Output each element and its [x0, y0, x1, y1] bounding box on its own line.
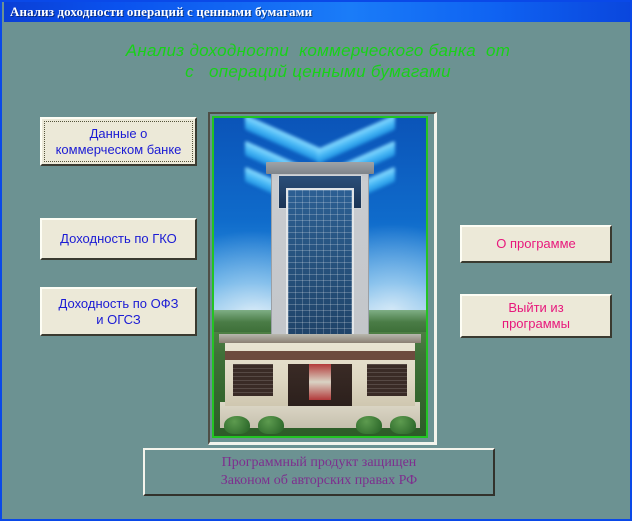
window-title-text: Анализ доходности операций с ценными бум…	[4, 4, 312, 20]
gko-yield-button[interactable]: Доходность по ГКО	[40, 218, 197, 260]
bank-podium	[225, 342, 415, 406]
bush	[390, 416, 416, 434]
bank-tower	[271, 162, 369, 358]
client-area: Анализ доходности коммерческого банка от…	[4, 22, 632, 521]
tower-cap	[266, 162, 374, 174]
application-window: Анализ доходности операций с ценными бум…	[0, 0, 632, 521]
podium-band	[225, 351, 415, 360]
bank-data-button-label: Данные о коммерческом банке	[56, 126, 182, 158]
ofz-ogsz-yield-button-label: Доходность по ОФЗ и ОГСЗ	[59, 296, 179, 328]
bush	[258, 416, 284, 434]
about-program-button-label: О программе	[496, 236, 576, 252]
podium-roof	[219, 334, 421, 343]
copyright-panel: Программный продукт защищен Законом об а…	[143, 448, 495, 496]
page-title: Анализ доходности коммерческого банка от…	[4, 40, 632, 82]
window-title-bar[interactable]: Анализ доходности операций с ценными бум…	[4, 2, 632, 22]
exit-program-button[interactable]: Выйти из программы	[460, 294, 612, 338]
tower-glass-facade	[286, 188, 354, 358]
podium-glass-right	[367, 364, 407, 396]
entrance-steps	[309, 364, 331, 400]
about-program-button[interactable]: О программе	[460, 225, 612, 263]
bank-data-button[interactable]: Данные о коммерческом банке	[40, 117, 197, 166]
exit-program-button-label: Выйти из программы	[502, 300, 570, 332]
building-entrance	[288, 364, 352, 406]
picture-frame	[208, 112, 437, 445]
sberbank-headquarters-photo	[212, 116, 428, 438]
bush	[356, 416, 382, 434]
podium-glass-left	[233, 364, 273, 396]
gko-yield-button-label: Доходность по ГКО	[60, 231, 177, 247]
bush	[224, 416, 250, 434]
copyright-text: Программный продукт защищен Законом об а…	[221, 454, 417, 490]
ofz-ogsz-yield-button[interactable]: Доходность по ОФЗ и ОГСЗ	[40, 287, 197, 336]
